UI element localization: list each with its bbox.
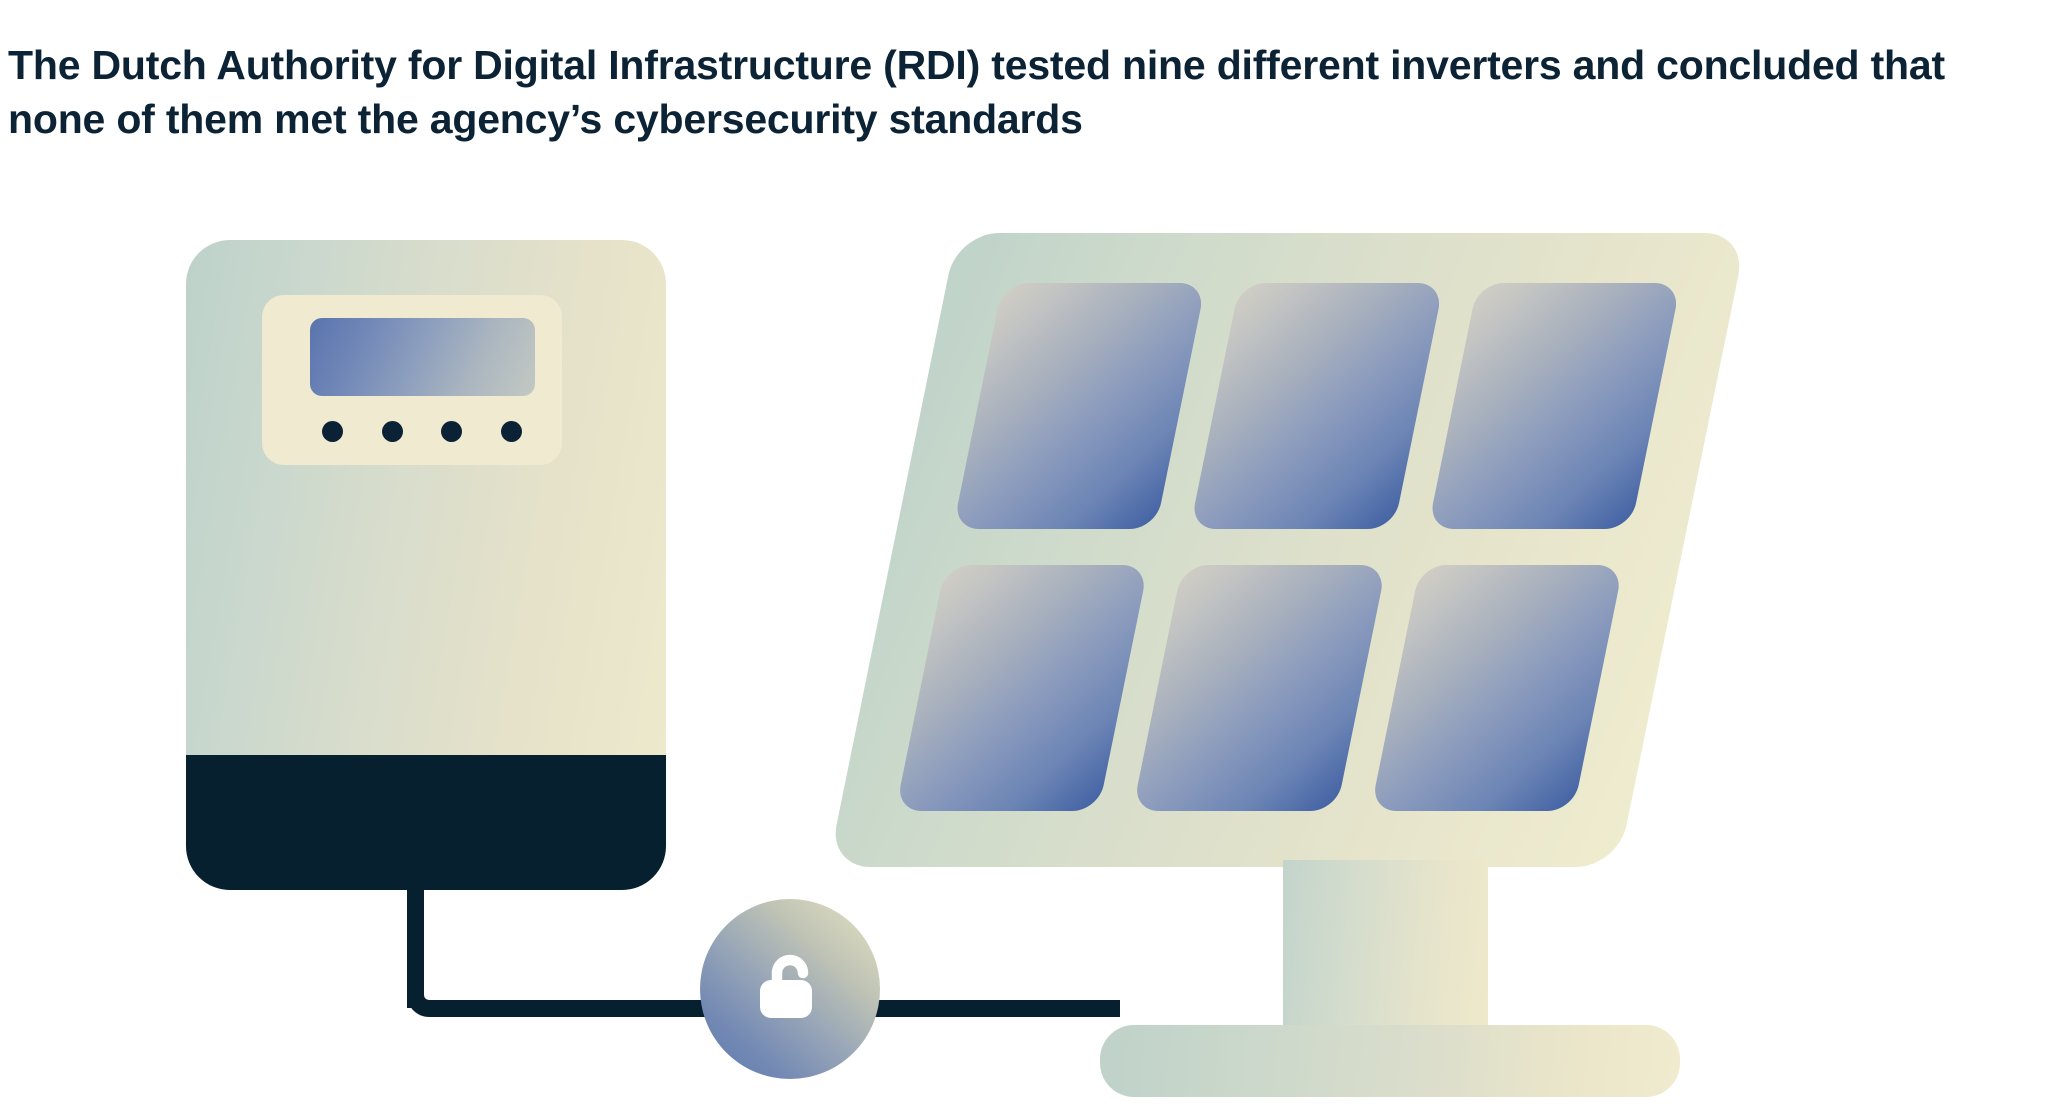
solar-inverter: [186, 240, 666, 890]
solar-cell: [1427, 283, 1680, 529]
solar-panel: [828, 233, 1747, 867]
solar-panel-foot: [1100, 1025, 1680, 1097]
solar-cell-grid: [895, 283, 1680, 811]
inverter-indicator-dot: [441, 421, 462, 442]
solar-panel-post: [1283, 860, 1488, 1035]
page-root: The Dutch Authority for Digital Infrastr…: [0, 0, 2048, 1109]
inverter-indicator-dot: [501, 421, 522, 442]
solar-cell: [1133, 565, 1386, 811]
solar-cell: [1370, 565, 1623, 811]
inverter-base-panel: [186, 755, 666, 890]
inverter-display-screen: [310, 318, 535, 396]
unlocked-padlock-icon: [747, 946, 833, 1032]
solar-cell: [895, 565, 1148, 811]
inverter-indicator-dot: [382, 421, 403, 442]
solar-cell: [1190, 283, 1443, 529]
solar-cell: [953, 283, 1206, 529]
inverter-indicator-row: [322, 419, 522, 443]
inverter-indicator-dot: [322, 421, 343, 442]
solar-inverter-cybersecurity-illustration: [0, 0, 2048, 1109]
unlocked-padlock-badge: [700, 899, 880, 1079]
inverter-facia: [262, 295, 562, 465]
